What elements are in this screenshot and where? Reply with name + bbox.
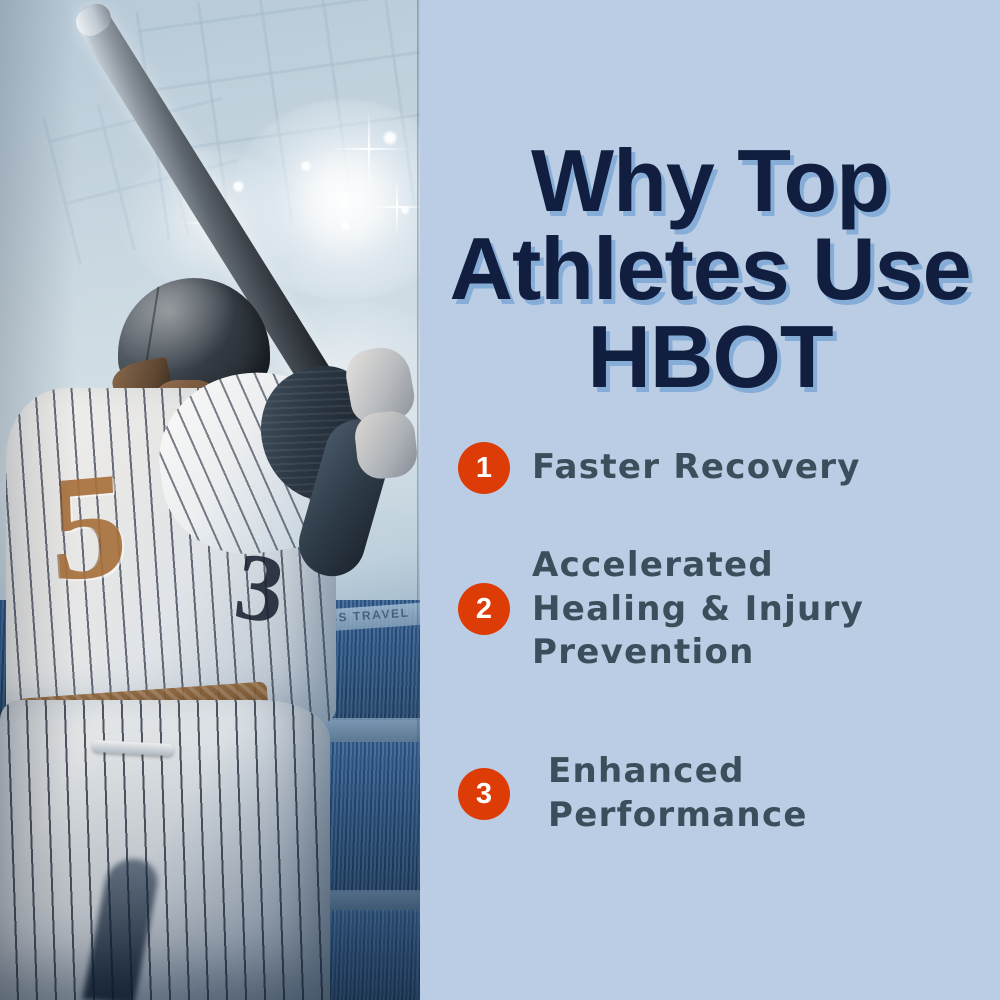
list-item: 3 Enhanced Performance [458,750,808,837]
benefit-number-badge: 3 [458,768,510,820]
batting-glove-lower-hand [353,409,420,481]
content-panel: Why Top Athletes Use HBOT 1 Faster Recov… [420,0,1000,1000]
baseball-photo-panel: BUSINESS TRAVEL 5 3 [0,0,420,1000]
benefit-label: Enhanced Performance [548,750,808,837]
light-flare-icon [330,110,408,188]
benefit-label: Faster Recovery [532,446,861,490]
light-spark-icon [300,160,312,172]
light-spark-icon [340,220,351,231]
benefit-label: Accelerated Healing & Injury Prevention [532,544,864,675]
light-spark-icon [400,205,410,215]
benefit-number-badge: 1 [458,442,510,494]
jersey-number-back: 5 [50,449,126,605]
poster-canvas: BUSINESS TRAVEL 5 3 Why Top Athletes Use… [0,0,1000,1000]
list-item: 1 Faster Recovery [458,442,861,494]
page-title: Why Top Athletes Use HBOT [440,137,980,401]
list-item: 2 Accelerated Healing & Injury Preventio… [458,544,864,675]
benefit-number-badge: 2 [458,583,510,635]
light-spark-icon [382,130,398,146]
light-spark-icon [232,180,245,193]
light-flare-icon [368,178,420,236]
